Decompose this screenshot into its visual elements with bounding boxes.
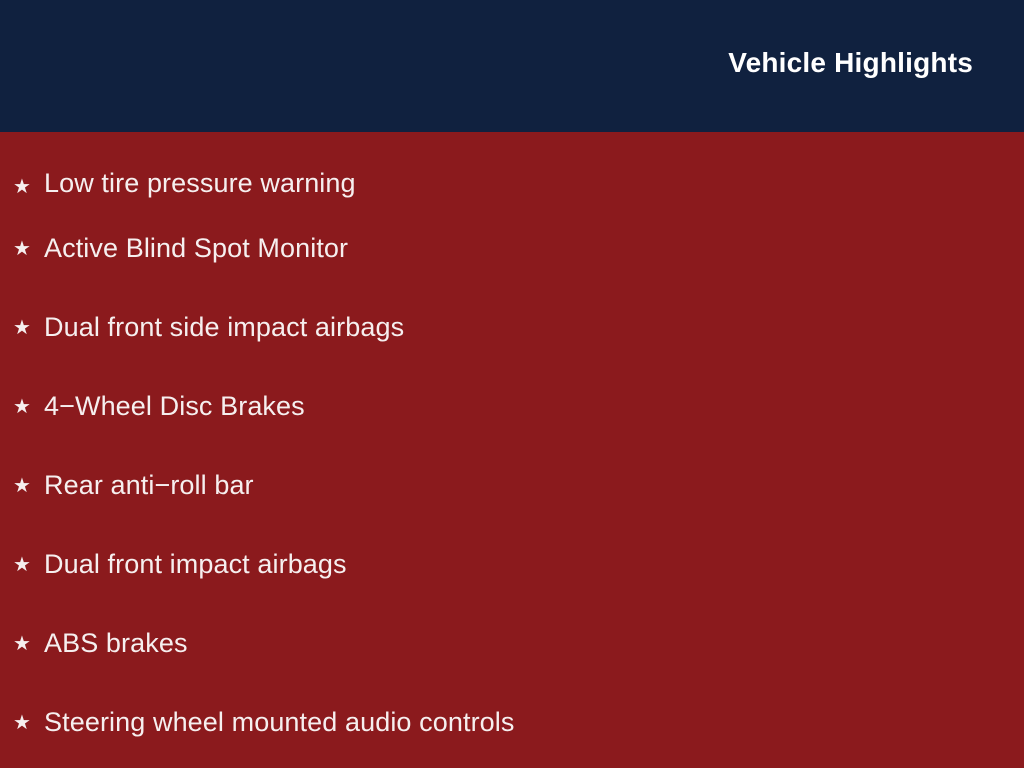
list-item[interactable]: ★ Dual front side impact airbags: [0, 287, 1024, 366]
list-item[interactable]: ★ Rear anti−roll bar: [0, 445, 1024, 524]
list-item[interactable]: ★ Steering wheel mounted audio controls: [0, 682, 1024, 761]
list-item-label: Low tire pressure warning: [44, 167, 356, 199]
list-item[interactable]: ★ ABS brakes: [0, 603, 1024, 682]
page-title: Vehicle Highlights: [728, 46, 973, 80]
list-item-label: Steering wheel mounted audio controls: [44, 706, 515, 738]
list-item-label: 4−Wheel Disc Brakes: [44, 390, 305, 422]
header-band: Vehicle Highlights: [0, 0, 1024, 132]
list-item-label: Rear anti−roll bar: [44, 469, 254, 501]
content-area: ★ Low tire pressure warning ★ Active Bli…: [0, 132, 1024, 768]
star-icon: ★: [13, 393, 33, 419]
star-icon: ★: [13, 709, 33, 735]
star-icon: ★: [13, 630, 33, 656]
list-item[interactable]: ★ 4−Wheel Disc Brakes: [0, 366, 1024, 445]
list-item-label: Dual front impact airbags: [44, 548, 347, 580]
list-item-label: ABS brakes: [44, 627, 188, 659]
star-icon: ★: [13, 235, 33, 261]
star-icon: ★: [13, 472, 33, 498]
slide-vehicle-highlights: Vehicle Highlights ★ Low tire pressure w…: [0, 0, 1024, 768]
star-icon: ★: [13, 551, 33, 577]
list-item[interactable]: ★ Low tire pressure warning: [0, 132, 1024, 208]
list-item[interactable]: ★ Dual front impact airbags: [0, 524, 1024, 603]
list-item[interactable]: ★ Active Blind Spot Monitor: [0, 208, 1024, 287]
list-item-label: Dual front side impact airbags: [44, 311, 404, 343]
vehicle-highlights-list: ★ Low tire pressure warning ★ Active Bli…: [0, 132, 1024, 761]
star-icon: ★: [13, 173, 33, 199]
list-item-label: Active Blind Spot Monitor: [44, 232, 348, 264]
star-icon: ★: [13, 314, 33, 340]
